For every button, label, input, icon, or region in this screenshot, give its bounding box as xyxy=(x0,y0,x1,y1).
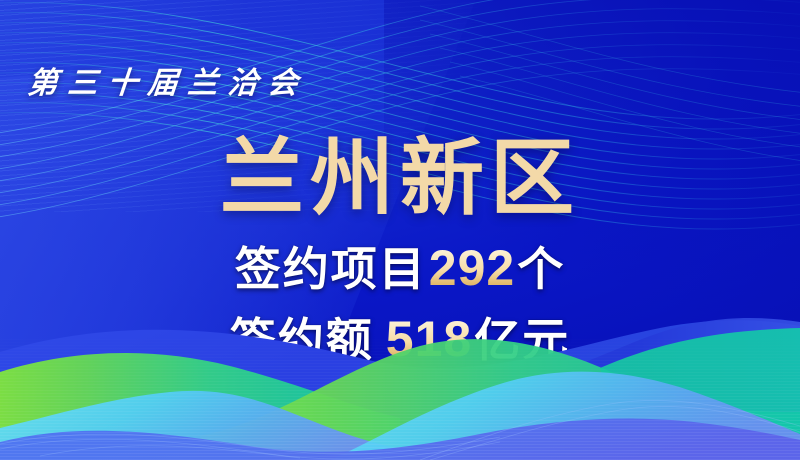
event-label: 第三十届兰洽会 xyxy=(26,58,310,102)
stat-suffix: 个 xyxy=(517,243,565,295)
stat-prefix: 签约项目 xyxy=(235,243,427,295)
layered-wave-svg xyxy=(0,310,800,460)
page-title: 兰州新区 xyxy=(0,136,800,220)
poster-canvas: 第三十届兰洽会 兰州新区 签约项目292个 签约额518亿元 xyxy=(0,0,800,460)
stat-value: 292 xyxy=(427,240,517,296)
stat-signed-projects: 签约项目292个 xyxy=(0,243,800,293)
layered-wave-graphic xyxy=(0,310,800,460)
